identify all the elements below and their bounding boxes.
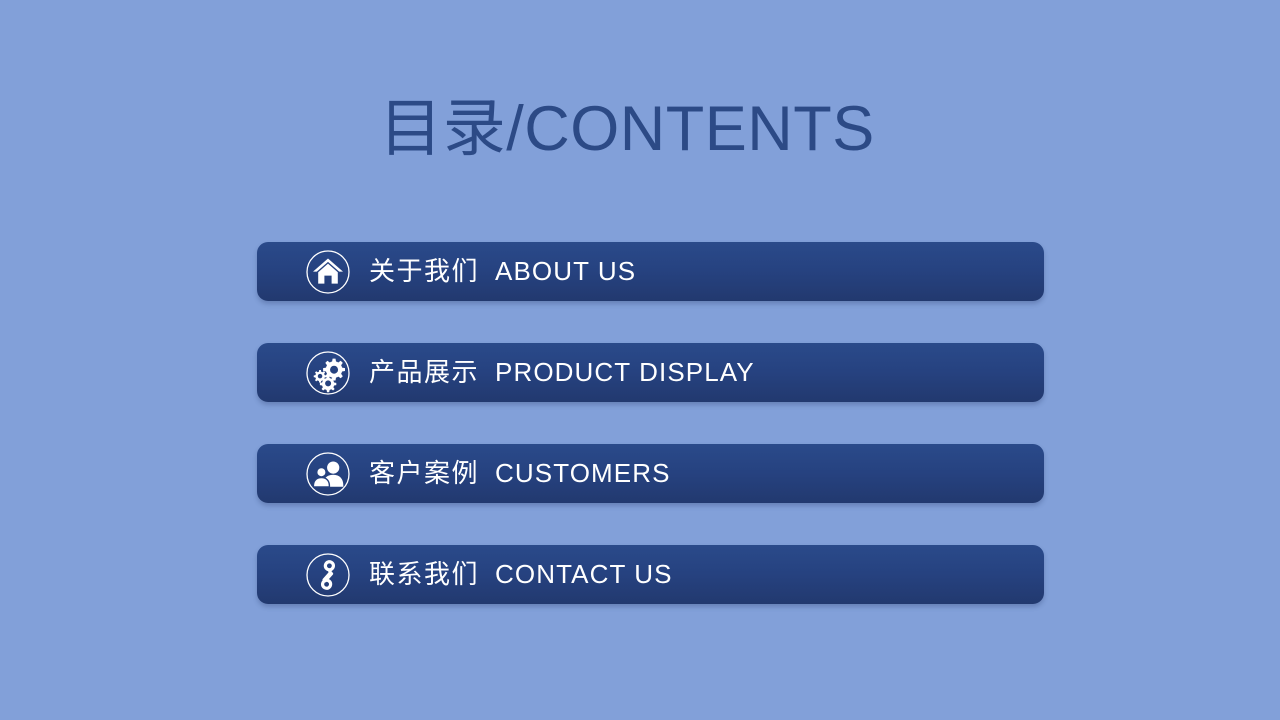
contents-item-label-cn: 关于我们 [369,259,479,285]
contents-item-label-en: PRODUCT DISPLAY [495,359,755,385]
contents-item-text: 产品展示 PRODUCT DISPLAY [369,359,755,386]
contents-item-label-cn: 联系我们 [369,562,479,588]
contents-list: 关于我们 ABOUT US [257,242,1044,604]
contents-item-customers[interactable]: 客户案例 CUSTOMERS [257,444,1044,503]
contents-item-text: 关于我们 ABOUT US [369,258,636,285]
contents-item-contact-us[interactable]: 联系我们 CONTACT US [257,545,1044,604]
contents-item-label-en: CUSTOMERS [495,460,671,486]
contents-item-label-en: CONTACT US [495,561,673,587]
gears-icon [305,350,351,396]
presentation-slide: 目录/CONTENTS 关于我们 ABOUT US [0,0,1280,720]
contents-item-label-en: ABOUT US [495,258,636,284]
contents-item-product-display[interactable]: 产品展示 PRODUCT DISPLAY [257,343,1044,402]
contents-item-label-cn: 客户案例 [369,461,479,487]
contents-item-text: 联系我们 CONTACT US [369,561,673,588]
title-block: 目录/CONTENTS [0,96,1280,162]
page-title: 目录/CONTENTS [379,96,875,162]
contents-item-text: 客户案例 CUSTOMERS [369,460,671,487]
contents-item-label-cn: 产品展示 [369,360,479,386]
home-icon [305,249,351,295]
people-icon [305,451,351,497]
telephone-icon [305,552,351,598]
contents-item-about-us[interactable]: 关于我们 ABOUT US [257,242,1044,301]
